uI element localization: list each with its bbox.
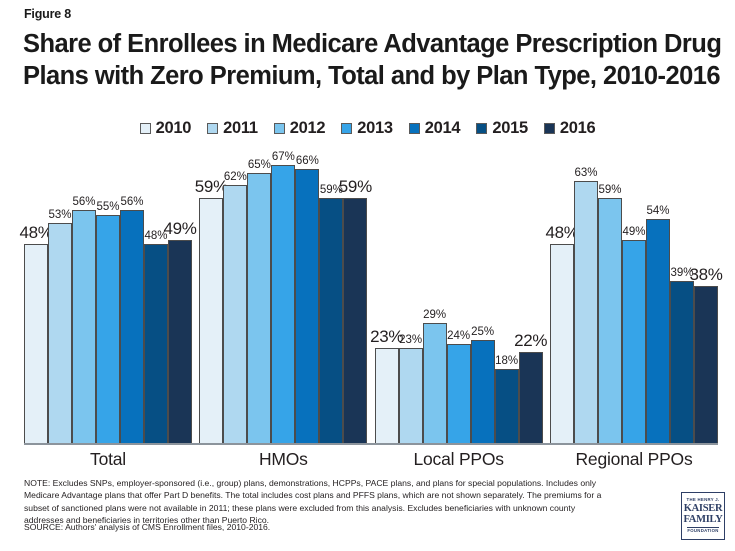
bar-value-label: 65% [248,159,271,171]
x-axis-label-local-ppos: Local PPOs [375,449,543,470]
bar-value-label: 53% [48,209,71,221]
bar-slot-total-2015: 48% [144,152,168,444]
bar-group-local-ppos: 23%23%29%24%25%18%22% [375,152,543,444]
bar[interactable] [72,210,96,444]
chart-note-line: Medicare Advantage plans that offer Part… [24,489,669,501]
bar-slot-local-ppos-2010: 23% [375,152,399,444]
legend-swatch-2015 [476,123,487,134]
kaiser-family-foundation-logo: THE HENRY J. KAISER FAMILY FOUNDATION [681,492,725,540]
bar[interactable] [319,198,343,444]
bar[interactable] [375,348,399,444]
legend-label-2010: 2010 [156,119,192,138]
bar[interactable] [423,323,447,444]
bar-slot-total-2012: 56% [72,152,96,444]
bar[interactable] [168,240,192,444]
bar[interactable] [223,185,247,444]
bar-value-label: 59% [598,184,621,196]
bar-value-label: 29% [423,309,446,321]
legend-item-2016[interactable]: 2016 [544,119,596,138]
legend-item-2011[interactable]: 2011 [207,119,258,138]
bar[interactable] [48,223,72,444]
bar-value-label: 56% [120,196,143,208]
bar[interactable] [574,181,598,444]
page-title-line-2: Plans with Zero Premium, Total and by Pl… [23,60,723,92]
x-axis-label-hmos: HMOs [199,449,367,470]
bar-value-label: 67% [272,151,295,163]
bar-slot-local-ppos-2012: 29% [423,152,447,444]
bar-slot-total-2011: 53% [48,152,72,444]
bar-slot-local-ppos-2016: 22% [519,152,543,444]
bar-slot-hmos-2011: 62% [223,152,247,444]
bar[interactable] [399,348,423,444]
bar-slot-local-ppos-2013: 24% [447,152,471,444]
x-axis-label-total: Total [24,449,192,470]
legend-item-2015[interactable]: 2015 [476,119,528,138]
legend-label-2012: 2012 [290,119,326,138]
legend-swatch-2014 [409,123,420,134]
legend-item-2012[interactable]: 2012 [274,119,326,138]
bar-slot-regional-ppos-2014: 54% [646,152,670,444]
bar[interactable] [519,352,543,444]
bar[interactable] [343,198,367,444]
bar-value-label: 54% [646,205,669,217]
bar-value-label: 63% [574,167,597,179]
legend-label-2015: 2015 [492,119,528,138]
bar[interactable] [96,215,120,444]
page-title-line-1: Share of Enrollees in Medicare Advantage… [23,28,723,60]
bar-slot-regional-ppos-2015: 39% [670,152,694,444]
bar-slot-regional-ppos-2013: 49% [622,152,646,444]
bar-slot-local-ppos-2014: 25% [471,152,495,444]
bar-slot-total-2016: 49% [168,152,192,444]
bar-slot-hmos-2014: 66% [295,152,319,444]
bar-value-label: 25% [471,326,494,338]
legend-label-2011: 2011 [223,119,258,138]
legend-swatch-2011 [207,123,218,134]
legend-item-2010[interactable]: 2010 [140,119,192,138]
bar[interactable] [670,281,694,444]
bar-slot-total-2013: 55% [96,152,120,444]
x-axis-label-regional-ppos: Regional PPOs [550,449,718,470]
bar[interactable] [24,244,48,444]
bar-slot-local-ppos-2011: 23% [399,152,423,444]
figure-label: Figure 8 [24,7,71,21]
page-title: Share of Enrollees in Medicare Advantage… [23,28,723,92]
chart-source: SOURCE: Authors' analysis of CMS Enrollm… [24,522,669,532]
bar[interactable] [247,173,271,444]
legend-label-2014: 2014 [425,119,461,138]
bar-slot-regional-ppos-2016: 38% [694,152,718,444]
legend-item-2014[interactable]: 2014 [409,119,461,138]
bar-slot-regional-ppos-2010: 48% [550,152,574,444]
bar[interactable] [598,198,622,444]
chart-legend: 2010201120122013201420152016 [0,119,735,138]
bar-group-hmos: 59%62%65%67%66%59%59% [199,152,367,444]
chart-note: NOTE: Excludes SNPs, employer-sponsored … [24,477,669,527]
legend-label-2013: 2013 [357,119,393,138]
legend-label-2016: 2016 [560,119,596,138]
bar[interactable] [550,244,574,444]
bar-value-label: 55% [96,201,119,213]
bar[interactable] [622,240,646,444]
bar-slot-hmos-2013: 67% [271,152,295,444]
bar[interactable] [295,169,319,444]
bar-value-label: 49% [163,219,196,239]
bar-slot-hmos-2010: 59% [199,152,223,444]
bar-value-label: 49% [622,226,645,238]
bar-value-label: 56% [72,196,95,208]
bar-value-label: 23% [399,334,422,346]
bar[interactable] [646,219,670,444]
bar[interactable] [447,344,471,444]
legend-swatch-2013 [341,123,352,134]
bar-slot-hmos-2012: 65% [247,152,271,444]
bar-value-label: 59% [339,177,372,197]
bar[interactable] [271,165,295,444]
bar-group-regional-ppos: 48%63%59%49%54%39%38% [550,152,718,444]
bar-slot-total-2014: 56% [120,152,144,444]
chart-note-line: subset of sanctioned plans were not avai… [24,502,669,514]
bar-slot-local-ppos-2015: 18% [495,152,519,444]
legend-swatch-2010 [140,123,151,134]
legend-swatch-2016 [544,123,555,134]
bar[interactable] [199,198,223,444]
bar-value-label: 38% [689,265,722,285]
chart-note-line: NOTE: Excludes SNPs, employer-sponsored … [24,477,669,489]
logo-line-foundation: FOUNDATION [687,527,720,534]
bar-value-label: 66% [296,155,319,167]
bar-value-label: 24% [447,330,470,342]
bar-group-total: 48%53%56%55%56%48%49% [24,152,192,444]
bar-value-label: 22% [514,331,547,351]
bar[interactable] [471,340,495,444]
bar[interactable] [144,244,168,444]
bar-slot-regional-ppos-2012: 59% [598,152,622,444]
bar[interactable] [120,210,144,444]
bar-value-label: 18% [495,355,518,367]
bar-slot-hmos-2016: 59% [343,152,367,444]
logo-line-top: THE HENRY J. [687,498,720,502]
bar[interactable] [694,286,718,445]
legend-swatch-2012 [274,123,285,134]
bar-slot-regional-ppos-2011: 63% [574,152,598,444]
x-axis-line [24,443,718,445]
bar-slot-total-2010: 48% [24,152,48,444]
legend-item-2013[interactable]: 2013 [341,119,393,138]
chart-plot-area: 48%53%56%55%56%48%49%59%62%65%67%66%59%5… [24,152,718,444]
logo-line-family: FAMILY [683,515,722,526]
bar[interactable] [495,369,519,444]
bar-value-label: 62% [224,171,247,183]
